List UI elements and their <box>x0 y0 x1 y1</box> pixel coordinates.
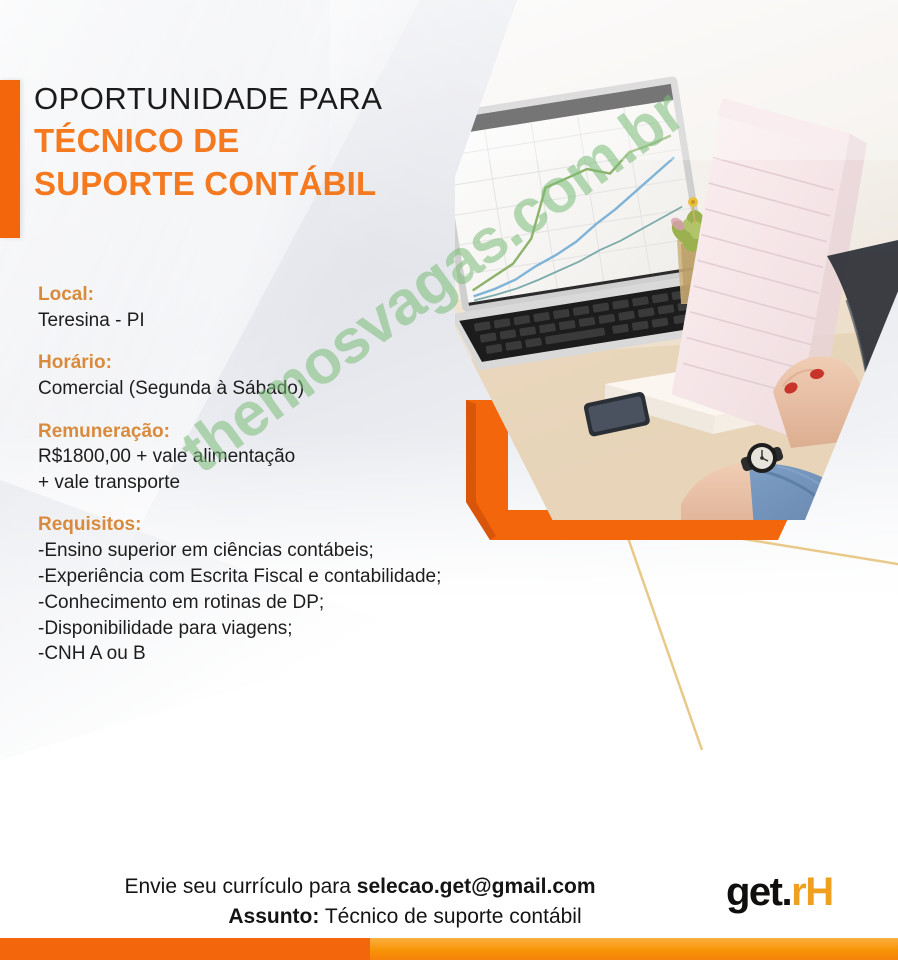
hero-photo-hexagon <box>455 0 898 520</box>
remuneracao-value-line-2: + vale transporte <box>38 470 508 496</box>
accent-bar-left <box>0 80 20 238</box>
subject-label: Assunto: <box>228 905 319 928</box>
headline-line-1: TÉCNICO DE <box>34 121 464 161</box>
footer-email-line: Envie seu currículo para selecao.get@gma… <box>0 872 720 902</box>
bottom-bar-right <box>370 938 898 960</box>
field-remuneracao: Remuneração: R$1800,00 + vale alimentaçã… <box>38 419 508 496</box>
footer-subject-line: Assunto: Técnico de suporte contábil <box>0 902 720 932</box>
local-label: Local: <box>38 282 508 308</box>
list-item: -Disponibilidade para viagens; <box>38 616 508 642</box>
contact-email: selecao.get@gmail.com <box>357 875 596 898</box>
remuneracao-label: Remuneração: <box>38 419 508 445</box>
footer-send-prefix: Envie seu currículo para <box>124 875 356 898</box>
list-item: -CNH A ou B <box>38 641 508 667</box>
requisitos-list: -Ensino superior em ciências contábeis; … <box>38 538 508 667</box>
job-posting-poster: OPORTUNIDADE PARA TÉCNICO DE SUPORTE CON… <box>0 0 898 960</box>
horario-value: Comercial (Segunda à Sábado) <box>38 376 508 402</box>
subject-value: Técnico de suporte contábil <box>319 905 581 928</box>
horario-label: Horário: <box>38 350 508 376</box>
logo-primary-text: get. <box>726 870 791 914</box>
job-details: Local: Teresina - PI Horário: Comercial … <box>38 282 508 667</box>
field-horario: Horário: Comercial (Segunda à Sábado) <box>38 350 508 401</box>
footer-contact: Envie seu currículo para selecao.get@gma… <box>0 872 720 933</box>
bottom-bar-left <box>0 938 370 960</box>
list-item: -Ensino superior em ciências contábeis; <box>38 538 508 564</box>
requisitos-label: Requisitos: <box>38 512 508 538</box>
headline-block: OPORTUNIDADE PARA TÉCNICO DE SUPORTE CON… <box>34 82 464 204</box>
remuneracao-value-line-1: R$1800,00 + vale alimentação <box>38 444 508 470</box>
field-local: Local: Teresina - PI <box>38 282 508 333</box>
company-logo: get.rH <box>726 872 833 912</box>
logo-accent-text: rH <box>791 870 832 914</box>
field-requisitos: Requisitos: -Ensino superior em ciências… <box>38 512 508 667</box>
list-item: -Experiência com Escrita Fiscal e contab… <box>38 564 508 590</box>
headline-line-2: SUPORTE CONTÁBIL <box>34 164 464 204</box>
list-item: -Conhecimento em rotinas de DP; <box>38 590 508 616</box>
local-value: Teresina - PI <box>38 308 508 334</box>
headline-kicker: OPORTUNIDADE PARA <box>34 82 464 117</box>
